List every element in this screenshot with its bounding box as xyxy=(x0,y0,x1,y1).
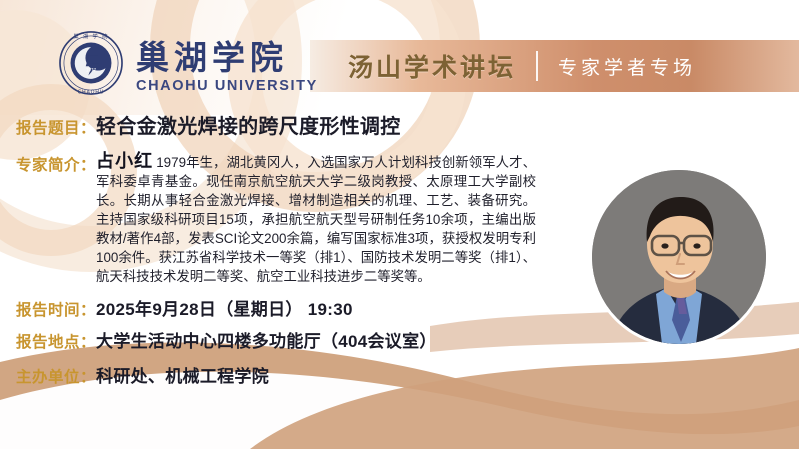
speaker-bio-label: 专家简介： xyxy=(16,152,96,175)
speaker-name: 占小红 xyxy=(96,151,153,171)
organizer-label: 主办单位： xyxy=(16,365,96,387)
speaker-portrait xyxy=(592,170,766,344)
report-place-value: 大学生活动中心四楼多功能厅（404会议室） xyxy=(96,327,437,352)
speaker-bio-row: 专家简介： 占小红1979年生，湖北黄冈人，入选国家万人计划科技创新领军人才、军… xyxy=(16,152,536,286)
report-title-label: 报告题目： xyxy=(16,116,96,138)
seminar-poster: 汤山学术讲坛 专家学者专场 1977 CHAOHU 巢 湖 学 院 巢湖学院 C… xyxy=(0,0,799,449)
report-place-label: 报告地点： xyxy=(16,330,96,352)
organizer-value: 科研处、机械工程学院 xyxy=(96,362,269,387)
report-title-value: 轻合金激光焊接的跨尺度形性调控 xyxy=(96,110,401,139)
portrait-photo-icon xyxy=(592,170,766,344)
speaker-bio-body: 占小红1979年生，湖北黄冈人，入选国家万人计划科技创新领军人才、军科委卓青基金… xyxy=(96,152,536,286)
report-time-label: 报告时间： xyxy=(16,298,96,320)
report-title-row: 报告题目： 轻合金激光焊接的跨尺度形性调控 xyxy=(16,110,401,139)
report-time-value: 2025年9月28日（星期日） 19:30 xyxy=(96,295,353,320)
report-place-row: 报告地点： 大学生活动中心四楼多功能厅（404会议室） xyxy=(16,327,437,352)
organizer-row: 主办单位： 科研处、机械工程学院 xyxy=(16,362,269,387)
speaker-bio-text: 1979年生，湖北黄冈人，入选国家万人计划科技创新领军人才、军科委卓青基金。现任… xyxy=(96,155,536,284)
report-time-row: 报告时间： 2025年9月28日（星期日） 19:30 xyxy=(16,295,353,320)
